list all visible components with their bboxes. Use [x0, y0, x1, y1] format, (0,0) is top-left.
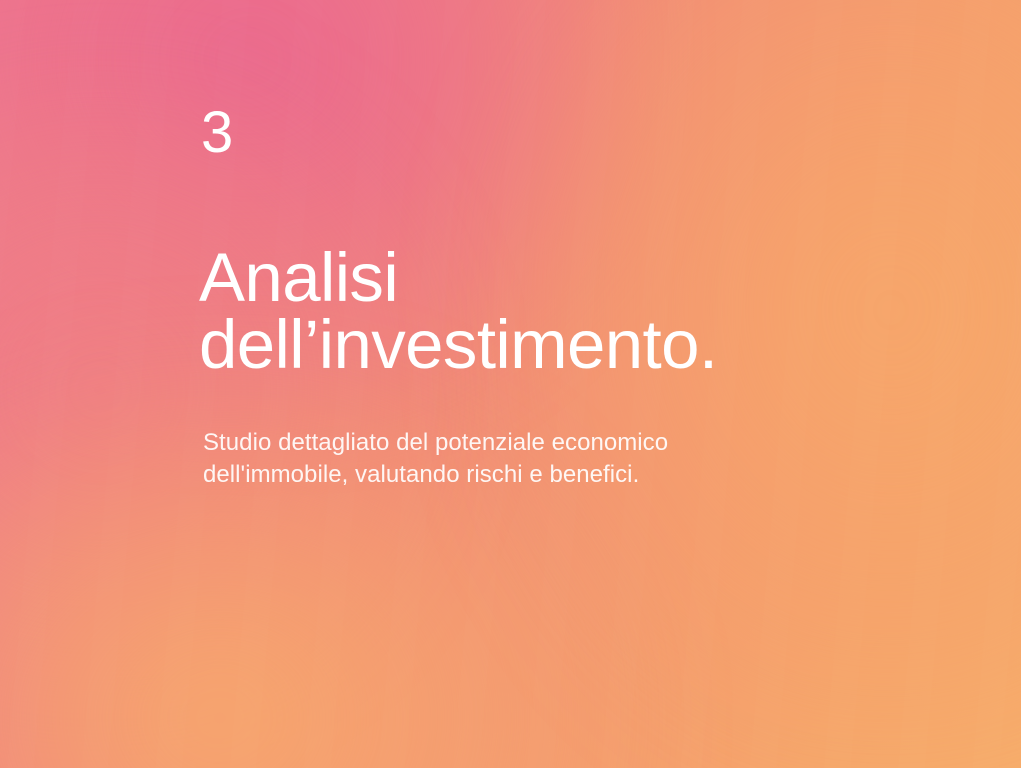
slide-subtitle: Studio dettagliato del potenziale econom… — [203, 427, 668, 491]
page-title: Analisi dell’investimento. — [199, 244, 717, 378]
page-title-line-2: dell’investimento. — [199, 311, 717, 378]
slide-subtitle-line-2: dell'immobile, valutando rischi e benefi… — [203, 459, 668, 491]
section-number: 3 — [201, 104, 234, 162]
slide-content: 3 Analisi dell’investimento. Studio dett… — [201, 0, 981, 768]
page-title-line-1: Analisi — [199, 244, 717, 311]
slide-subtitle-line-1: Studio dettagliato del potenziale econom… — [203, 427, 668, 459]
presentation-slide: 3 Analisi dell’investimento. Studio dett… — [0, 0, 1021, 768]
